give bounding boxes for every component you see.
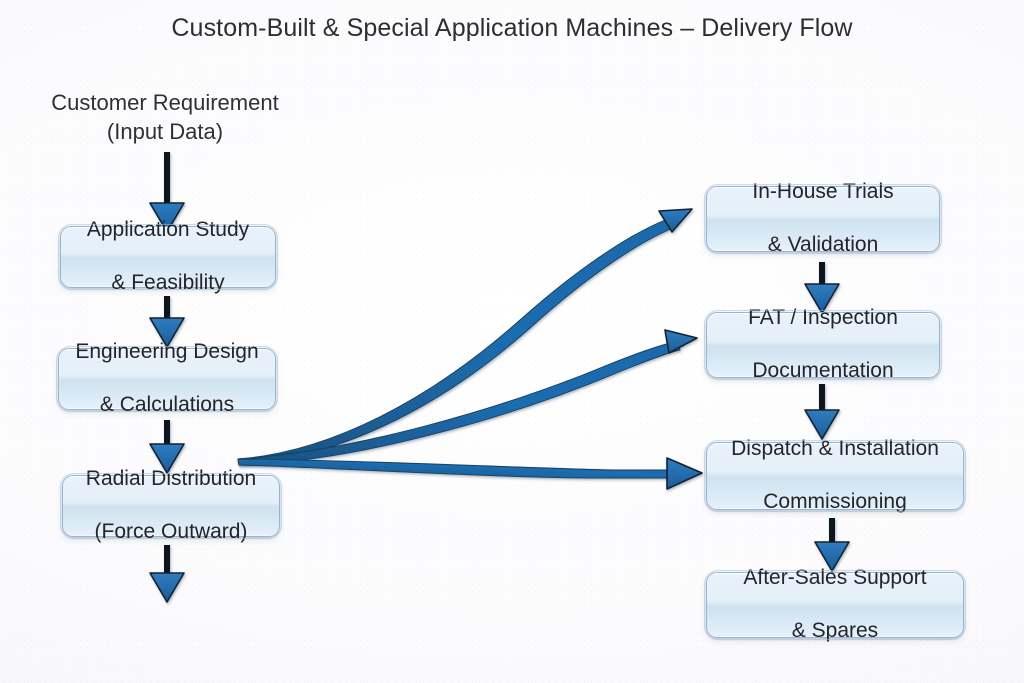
node-after-sales-support-line2: & Spares: [743, 618, 926, 645]
node-in-house-trials-line1: In-House Trials: [752, 179, 893, 206]
node-after-sales-support-line1: After-Sales Support: [743, 565, 926, 592]
customer-requirement-line1: Customer Requirement: [20, 88, 310, 117]
node-application-study-text: Application Study & Feasibility: [79, 190, 257, 324]
node-engineering-design-line2: & Calculations: [75, 392, 258, 419]
diagram-canvas: Custom-Built & Special Application Machi…: [0, 0, 1024, 683]
node-dispatch-installation-line1: Dispatch & Installation: [731, 436, 939, 463]
node-after-sales-support-text: After-Sales Support & Spares: [735, 538, 934, 672]
node-in-house-trials[interactable]: In-House Trials & Validation: [706, 186, 940, 252]
node-engineering-design-text: Engineering Design & Calculations: [67, 312, 266, 446]
node-application-study-line1: Application Study: [87, 217, 249, 244]
customer-requirement-line2: (Input Data): [20, 117, 310, 146]
node-engineering-design[interactable]: Engineering Design & Calculations: [58, 348, 276, 410]
node-dispatch-installation-line2: Commissioning: [731, 489, 939, 516]
node-radial-distribution-text: Radial Distribution (Force Outward): [78, 439, 264, 573]
radial-arrow-to-fat-inspection: [238, 330, 697, 465]
node-radial-distribution[interactable]: Radial Distribution (Force Outward): [62, 475, 280, 537]
node-in-house-trials-line2: & Validation: [752, 232, 893, 259]
node-radial-distribution-line1: Radial Distribution: [86, 466, 256, 493]
node-radial-distribution-line2: (Force Outward): [86, 519, 256, 546]
node-in-house-trials-text: In-House Trials & Validation: [744, 152, 901, 286]
node-application-study[interactable]: Application Study & Feasibility: [60, 226, 276, 288]
node-fat-inspection-line1: FAT / Inspection: [748, 305, 898, 332]
customer-requirement-label: Customer Requirement (Input Data): [20, 88, 310, 146]
node-after-sales-support[interactable]: After-Sales Support & Spares: [706, 572, 964, 638]
radial-arrow-to-dispatch-installation: [238, 458, 702, 489]
node-engineering-design-line1: Engineering Design: [75, 339, 258, 366]
node-fat-inspection[interactable]: FAT / Inspection Documentation: [706, 312, 940, 378]
node-dispatch-installation[interactable]: Dispatch & Installation Commissioning: [706, 442, 964, 510]
node-fat-inspection-text: FAT / Inspection Documentation: [740, 278, 906, 412]
node-application-study-line2: & Feasibility: [87, 270, 249, 297]
node-fat-inspection-line2: Documentation: [748, 358, 898, 385]
page-title: Custom-Built & Special Application Machi…: [0, 14, 1024, 43]
node-dispatch-installation-text: Dispatch & Installation Commissioning: [723, 409, 947, 543]
